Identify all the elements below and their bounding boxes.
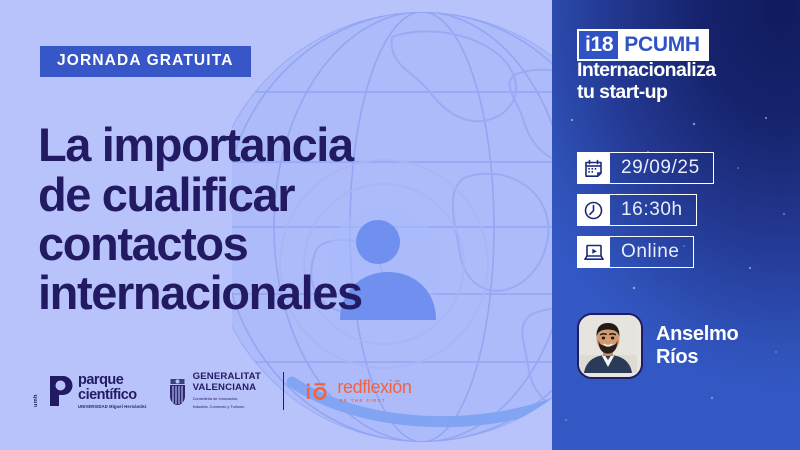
webinar-icon: [577, 236, 610, 268]
event-format-chip: Online: [577, 236, 714, 268]
logo-parque-cientifico: umh parque científico UNIVERSIDAD Miguel…: [40, 373, 147, 409]
free-event-badge: JORNADA GRATUITA: [40, 46, 251, 77]
calendar-icon: [577, 152, 610, 184]
headline-line-3: contactos: [38, 219, 538, 268]
logo-part-pcumh: PCUMH: [618, 31, 707, 59]
logo-generalitat-valenciana: GENERALITAT VALENCIANA Conselleria de In…: [167, 372, 261, 409]
page-title: La importancia de cualificar contactos i…: [38, 120, 538, 316]
speaker-block: Anselmo Ríos: [577, 313, 738, 379]
event-date-value: 29/09/25: [610, 152, 714, 184]
redflexion-name: redflexiōn: [337, 378, 411, 396]
gva-word-2: VALENCIANA: [193, 383, 261, 394]
redflexion-io-icon: [306, 382, 330, 400]
clock-icon: [577, 194, 610, 226]
parque-word-2: científico: [78, 388, 147, 403]
event-time-value: 16:30h: [610, 194, 697, 226]
event-format-value: Online: [610, 236, 694, 268]
tagline-line-1: Internacionaliza: [577, 59, 716, 81]
headline-line-4: internacionales: [38, 268, 538, 317]
event-date-chip: 29/09/25: [577, 152, 714, 184]
logo-divider: [283, 372, 284, 410]
logo-redflexion: redflexiōn BE THE FIRST: [306, 378, 411, 403]
parque-p-icon: umh: [40, 374, 73, 408]
redflexion-tagline: BE THE FIRST: [339, 399, 411, 403]
i18-pcumh-logo: i18 PCUMH: [577, 29, 709, 61]
parque-word-1: parque: [78, 373, 147, 388]
right-panel: i18 PCUMH Internacionaliza tu start-up: [552, 0, 800, 450]
gva-subtitle-2: Industria, Comercio y Turismo: [193, 404, 261, 409]
speaker-last-name: Ríos: [656, 346, 738, 369]
gva-subtitle-1: Conselleria de Innovación,: [193, 396, 261, 401]
left-panel: JORNADA GRATUITA La importancia de cuali…: [0, 0, 552, 450]
logo-part-i18: i18: [579, 31, 618, 59]
parque-subtitle: UNIVERSIDAD Miguel Hernández: [78, 405, 147, 409]
event-promo-banner: JORNADA GRATUITA La importancia de cuali…: [0, 0, 800, 450]
tagline-line-2: tu start-up: [577, 81, 716, 103]
parque-umh-label: umh: [33, 394, 39, 407]
speaker-first-name: Anselmo: [656, 323, 738, 346]
speaker-name: Anselmo Ríos: [656, 323, 738, 368]
headline-line-1: La importancia: [38, 120, 538, 169]
headline-line-2: de cualificar: [38, 170, 538, 219]
event-time-chip: 16:30h: [577, 194, 714, 226]
sponsor-logo-bar: umh parque científico UNIVERSIDAD Miguel…: [40, 368, 411, 414]
avatar: [577, 313, 643, 379]
program-tagline: Internacionaliza tu start-up: [577, 59, 716, 103]
gva-crest-icon: [167, 376, 188, 407]
event-details-list: 29/09/25 16:30h: [577, 152, 714, 278]
speaker-photo: [579, 315, 637, 373]
